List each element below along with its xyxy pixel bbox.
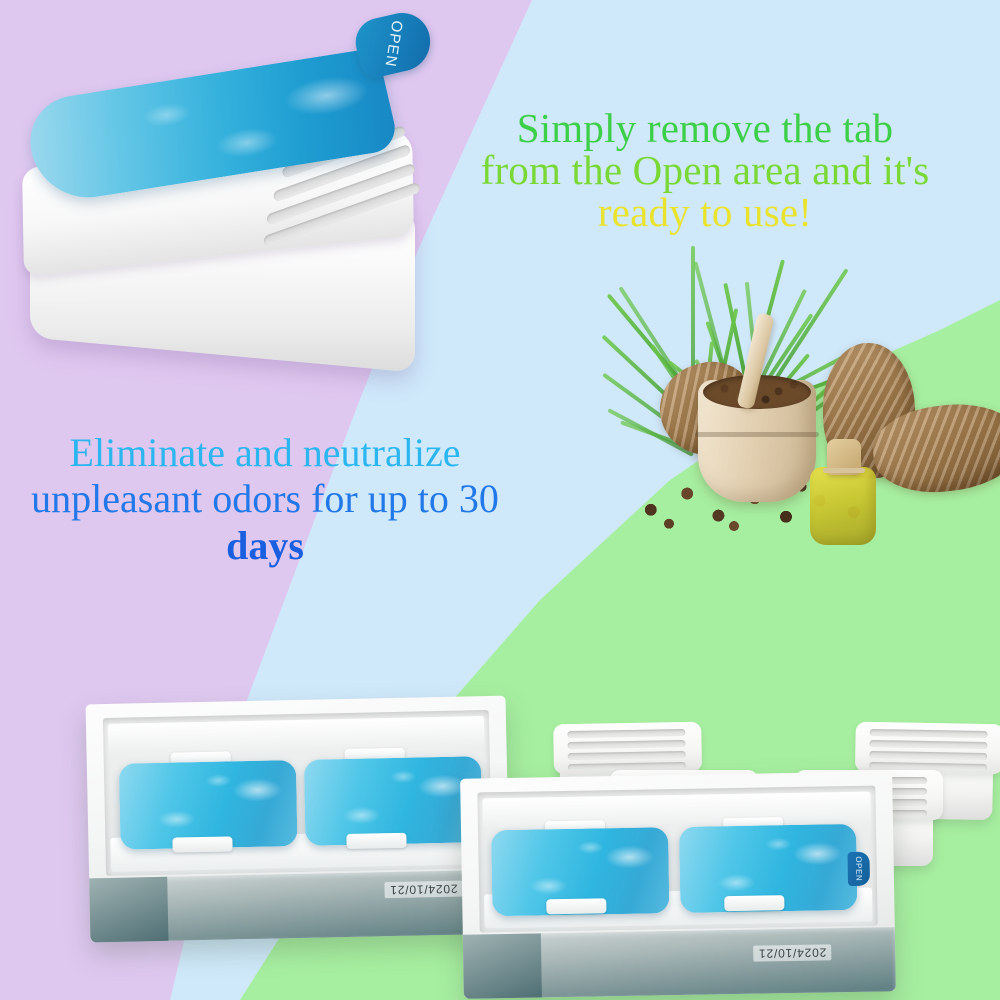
lid-slot — [567, 729, 685, 738]
packaging-box-left: 2024/10/21 — [86, 696, 511, 943]
date-code-label: 2024/10/21 — [384, 881, 462, 899]
essential-oil-bottle — [810, 467, 876, 545]
subheadline-line-1: Eliminate and neutralize — [0, 430, 565, 476]
oil-bottle-cap — [827, 439, 861, 475]
lid-slot — [870, 729, 988, 738]
box-front-left-face — [463, 933, 542, 998]
lid-slot — [568, 751, 686, 760]
retainer-clip — [346, 833, 406, 849]
retainer-clip — [724, 895, 784, 911]
retainer-clip — [546, 898, 606, 914]
subheadline-text: Eliminate and neutralize unpleasant odor… — [0, 430, 565, 569]
lid-slot — [869, 740, 987, 749]
fragrance-ingredients-scene — [555, 235, 1000, 645]
lid-slot — [869, 751, 987, 760]
headline-line-2: from the Open area and it's — [440, 150, 970, 192]
open-tab: OPEN — [847, 852, 870, 886]
main-product-photo: OPEN — [18, 30, 448, 360]
subheadline-line-2: unpleasant odors for up to 30 — [0, 476, 565, 522]
packaging-box-right: OPEN 2024/10/21 — [460, 771, 896, 999]
retainer-clip — [172, 836, 232, 852]
product-marketing-image: OPEN Simply remove the tab from the Open… — [0, 0, 1000, 1000]
freshener-lid — [553, 722, 702, 775]
subheadline-line-3: days — [0, 523, 565, 569]
open-tab-label: OPEN — [381, 19, 405, 68]
date-code-label: 2024/10/21 — [753, 944, 831, 961]
open-tab-label: OPEN — [854, 856, 863, 881]
headline-line-3: ready to use! — [440, 192, 970, 234]
freshener-lid — [855, 722, 1000, 775]
headline-line-1: Simply remove the tab — [440, 108, 970, 150]
box-front-left-face — [89, 877, 168, 943]
headline-text: Simply remove the tab from the Open area… — [440, 108, 970, 233]
lid-slot — [567, 740, 685, 749]
